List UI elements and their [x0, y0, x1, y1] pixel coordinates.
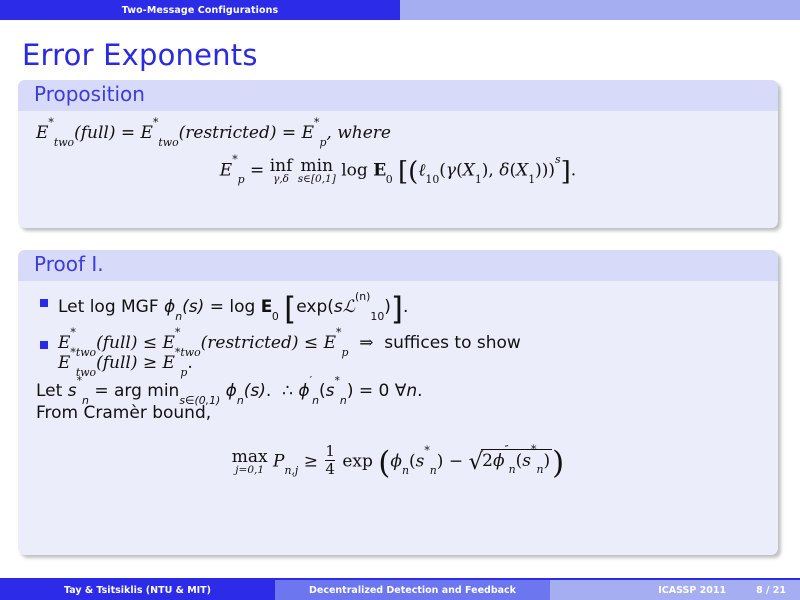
- s-sub: n: [430, 464, 437, 477]
- eq-sym: E: [302, 123, 314, 143]
- forall-op: ∀: [395, 381, 407, 401]
- p-symbol: P: [273, 451, 284, 471]
- s-sub: n: [82, 394, 89, 407]
- gamma-symbol: γ: [446, 160, 456, 180]
- phi-symbol: ϕ: [226, 381, 237, 401]
- paren: ): [347, 381, 354, 401]
- eq-sup: *: [153, 116, 158, 129]
- p-sub: n,j: [284, 464, 298, 477]
- s-sub: n: [536, 463, 543, 476]
- paren-open: (: [378, 445, 390, 481]
- bracket-open: [: [284, 291, 296, 327]
- proof-cramer-line: From Cramèr bound,: [32, 401, 764, 423]
- eq-sub: p: [341, 346, 348, 359]
- exp-label: exp: [296, 297, 327, 317]
- radicand: 2ϕ″n(s*n): [481, 449, 552, 471]
- implies-op: ⇒: [359, 333, 373, 353]
- eq-op: =: [250, 160, 264, 180]
- period: .: [403, 297, 408, 317]
- proposition-statement: E*two(full) = E*two(restricted) = E*p, w…: [32, 117, 764, 143]
- proof-bullet-list: Let log MGF ϕn(s) = log E0 [exp(sℒ(n)10)…: [32, 291, 764, 373]
- proposition-heading: Proposition: [18, 80, 778, 111]
- expectation-sub: 0: [272, 310, 279, 323]
- footer-bar: Tay & Tsitsiklis (NTU & MIT) Decentraliz…: [0, 580, 800, 600]
- paren: ): [543, 451, 550, 471]
- exp-arg-s: s: [334, 297, 343, 317]
- argmin-label: arg min: [114, 381, 179, 401]
- eq-sym: E: [163, 333, 175, 353]
- eq-sup: *: [314, 116, 319, 129]
- x-symbol: X: [463, 160, 475, 180]
- inf-operator: inf γ,δ: [270, 158, 293, 185]
- eq-sub: two: [180, 346, 200, 359]
- eq-sup: *: [175, 346, 180, 359]
- min-operator: min s∈[0,1]: [298, 158, 336, 185]
- exponent-s: s: [555, 153, 561, 166]
- x-symbol: X: [516, 160, 528, 180]
- period: .: [266, 381, 271, 401]
- proof-heading: Proof I.: [18, 250, 778, 281]
- n-symbol: n: [406, 381, 417, 401]
- bullet-text: Let log MGF ϕn(s) = log E0 [exp(sℒ(n)10)…: [58, 297, 408, 317]
- x-sub: 1: [475, 173, 482, 186]
- bullet-line-2: E*two(full) ≥ E*p.: [58, 353, 764, 373]
- therefore-op: ∴: [282, 381, 293, 401]
- phi-prime: ′: [310, 374, 312, 387]
- proof-body: Let log MGF ϕn(s) = log E0 [exp(sℒ(n)10)…: [18, 281, 778, 491]
- expectation-sub: 0: [386, 173, 393, 186]
- paren: (: [319, 381, 326, 401]
- paren: ))): [535, 160, 555, 180]
- max-operator: max j=0,1: [232, 449, 268, 476]
- footer-page-number: 8 / 21: [756, 585, 786, 596]
- eq-arg: (full): [96, 353, 137, 373]
- bullet-trailing-text: suffices to show: [384, 333, 521, 353]
- fraction-one-quarter: 1 4: [325, 444, 335, 478]
- s-sup: *: [77, 374, 82, 387]
- inf-limits: γ,δ: [270, 174, 293, 185]
- nav-section-active[interactable]: Two-Message Configurations: [0, 0, 400, 20]
- footer-author: Tay & Tsitsiklis (NTU & MIT): [0, 580, 275, 600]
- eq-sup: *: [48, 116, 53, 129]
- eq-op: =: [210, 297, 224, 317]
- eq-arg: (full): [74, 123, 115, 143]
- square-root: √2ϕ″n(s*n): [469, 449, 553, 475]
- minus-op: −: [449, 451, 463, 471]
- fraction-numerator: 1: [325, 444, 335, 460]
- eq-sup: *: [336, 326, 341, 339]
- proposition-display-equation: E*p = inf γ,δ min s∈[0,1] log E0 [(ℓ10(γ…: [32, 143, 764, 187]
- eq-sup: *: [232, 153, 237, 166]
- phi-symbol: ϕ: [493, 451, 505, 471]
- phi-symbol: ϕ: [390, 451, 402, 471]
- script-L-sup: (n): [355, 290, 370, 303]
- paren: (: [327, 297, 334, 317]
- eq-sym: E: [163, 353, 175, 373]
- eq-arg: (full): [96, 333, 137, 353]
- page-title: Error Exponents: [22, 38, 258, 72]
- eq-sym: E: [141, 123, 153, 143]
- paren: ): [437, 451, 444, 471]
- eq-op: =: [282, 123, 296, 143]
- paren: ),: [482, 160, 499, 180]
- paren-open: (: [408, 157, 418, 187]
- exp-label: exp: [342, 451, 373, 471]
- s-sub: n: [340, 394, 347, 407]
- script-L-symbol: ℒ: [343, 297, 355, 317]
- proof-display-equation: max j=0,1 Pn,j ≥ 1 4 exp (ϕn(s*n) − √2ϕ″…: [32, 423, 764, 481]
- eq-zero: = 0: [359, 381, 389, 401]
- bullet-line-1: E*two(full) ≤ E*two(restricted) ≤ E*p ⇒ …: [58, 333, 764, 353]
- bullet-lead: Let log MGF: [58, 297, 164, 317]
- phi-arg: (s): [182, 297, 204, 317]
- eq-sub: two: [158, 136, 178, 149]
- coefficient-two: 2: [482, 451, 493, 471]
- expectation-symbol: E: [261, 297, 272, 317]
- eq-sup: *: [175, 326, 180, 339]
- paren-close: ): [552, 445, 564, 481]
- script-L-sub: 10: [370, 310, 384, 323]
- s-sup: *: [531, 443, 536, 456]
- eq-sub: p: [238, 173, 245, 186]
- eq-sup: *: [70, 346, 75, 359]
- phi-sub: n: [175, 310, 182, 323]
- period: .: [417, 381, 422, 401]
- eq-op: =: [121, 123, 135, 143]
- paren: ): [384, 297, 391, 317]
- bullet-square-icon: [40, 341, 48, 349]
- bracket-close: ]: [561, 157, 571, 187]
- list-item: Let log MGF ϕn(s) = log E0 [exp(sℒ(n)10)…: [32, 291, 764, 327]
- footer-right-group: ICASSP 2011 8 / 21: [550, 580, 800, 600]
- fraction-denominator: 4: [325, 460, 335, 478]
- eq-sub: two: [76, 346, 96, 359]
- eq-op: =: [94, 381, 108, 401]
- footer-talk-title: Decentralized Detection and Feedback: [275, 580, 550, 600]
- s-sup: *: [334, 374, 339, 387]
- proof-argmin-line: Let s*n = arg mins∈(0,1) ϕn(s). ∴ ϕ′n(s*…: [32, 379, 764, 401]
- phi-symbol: ϕ: [164, 297, 175, 317]
- log-label: log: [341, 160, 368, 180]
- delta-symbol: δ: [499, 160, 509, 180]
- eq-sub: p: [180, 366, 187, 379]
- phi-double-prime: ″: [505, 443, 509, 456]
- phi-symbol: ϕ: [298, 381, 309, 401]
- s-symbol: s: [522, 451, 531, 471]
- paren: (: [439, 160, 446, 180]
- x-sub: 1: [528, 173, 535, 186]
- eq-sub: two: [54, 136, 74, 149]
- lead-text: Let: [36, 381, 68, 401]
- list-item: E*two(full) ≤ E*two(restricted) ≤ E*p ⇒ …: [32, 333, 764, 373]
- nav-section-label: Two-Message Configurations: [122, 5, 279, 16]
- eq-sub: p: [319, 136, 326, 149]
- eq-sym: E: [220, 160, 232, 180]
- ge-op: ≥: [304, 451, 318, 471]
- phi-sub: n: [237, 394, 244, 407]
- le-op: ≤: [304, 333, 318, 353]
- max-limits: j=0,1: [232, 465, 268, 476]
- period: .: [571, 160, 576, 180]
- phi-sub: n: [312, 394, 319, 407]
- log-label: log: [229, 297, 255, 317]
- bullet-square-icon: [40, 299, 48, 307]
- expectation-symbol: E: [373, 160, 385, 180]
- min-limits: s∈[0,1]: [298, 174, 336, 185]
- proof-block: Proof I. Let log MGF ϕn(s) = log E0 [exp…: [18, 250, 778, 555]
- paren: (: [456, 160, 463, 180]
- eq-sym: E: [36, 123, 48, 143]
- s-sup: *: [424, 444, 429, 457]
- bracket-close: ]: [391, 291, 403, 327]
- eq-sym: E: [58, 353, 70, 373]
- eq-sym: E: [58, 333, 70, 353]
- paren: (: [409, 451, 416, 471]
- ge-op: ≥: [143, 353, 157, 373]
- navigation-header-bar: Two-Message Configurations: [0, 0, 800, 20]
- eq-tail: , where: [326, 123, 391, 143]
- phi-arg: (s): [244, 381, 266, 401]
- proposition-body: E*two(full) = E*two(restricted) = E*p, w…: [18, 111, 778, 197]
- eq-arg: (restricted): [201, 333, 299, 353]
- phi-sub: n: [509, 463, 516, 476]
- phi-sub: n: [402, 464, 409, 477]
- ell-sub: 10: [425, 173, 439, 186]
- le-op: ≤: [143, 333, 157, 353]
- eq-sym: E: [324, 333, 336, 353]
- max-label: max: [232, 449, 268, 466]
- s-symbol: s: [68, 381, 77, 401]
- bracket-open: [: [398, 157, 408, 187]
- eq-sup: *: [70, 326, 75, 339]
- argmin-limits: s∈(0,1): [179, 394, 220, 407]
- eq-arg: (restricted): [179, 123, 277, 143]
- footer-venue: ICASSP 2011: [658, 585, 726, 596]
- proposition-block: Proposition E*two(full) = E*two(restrict…: [18, 80, 778, 228]
